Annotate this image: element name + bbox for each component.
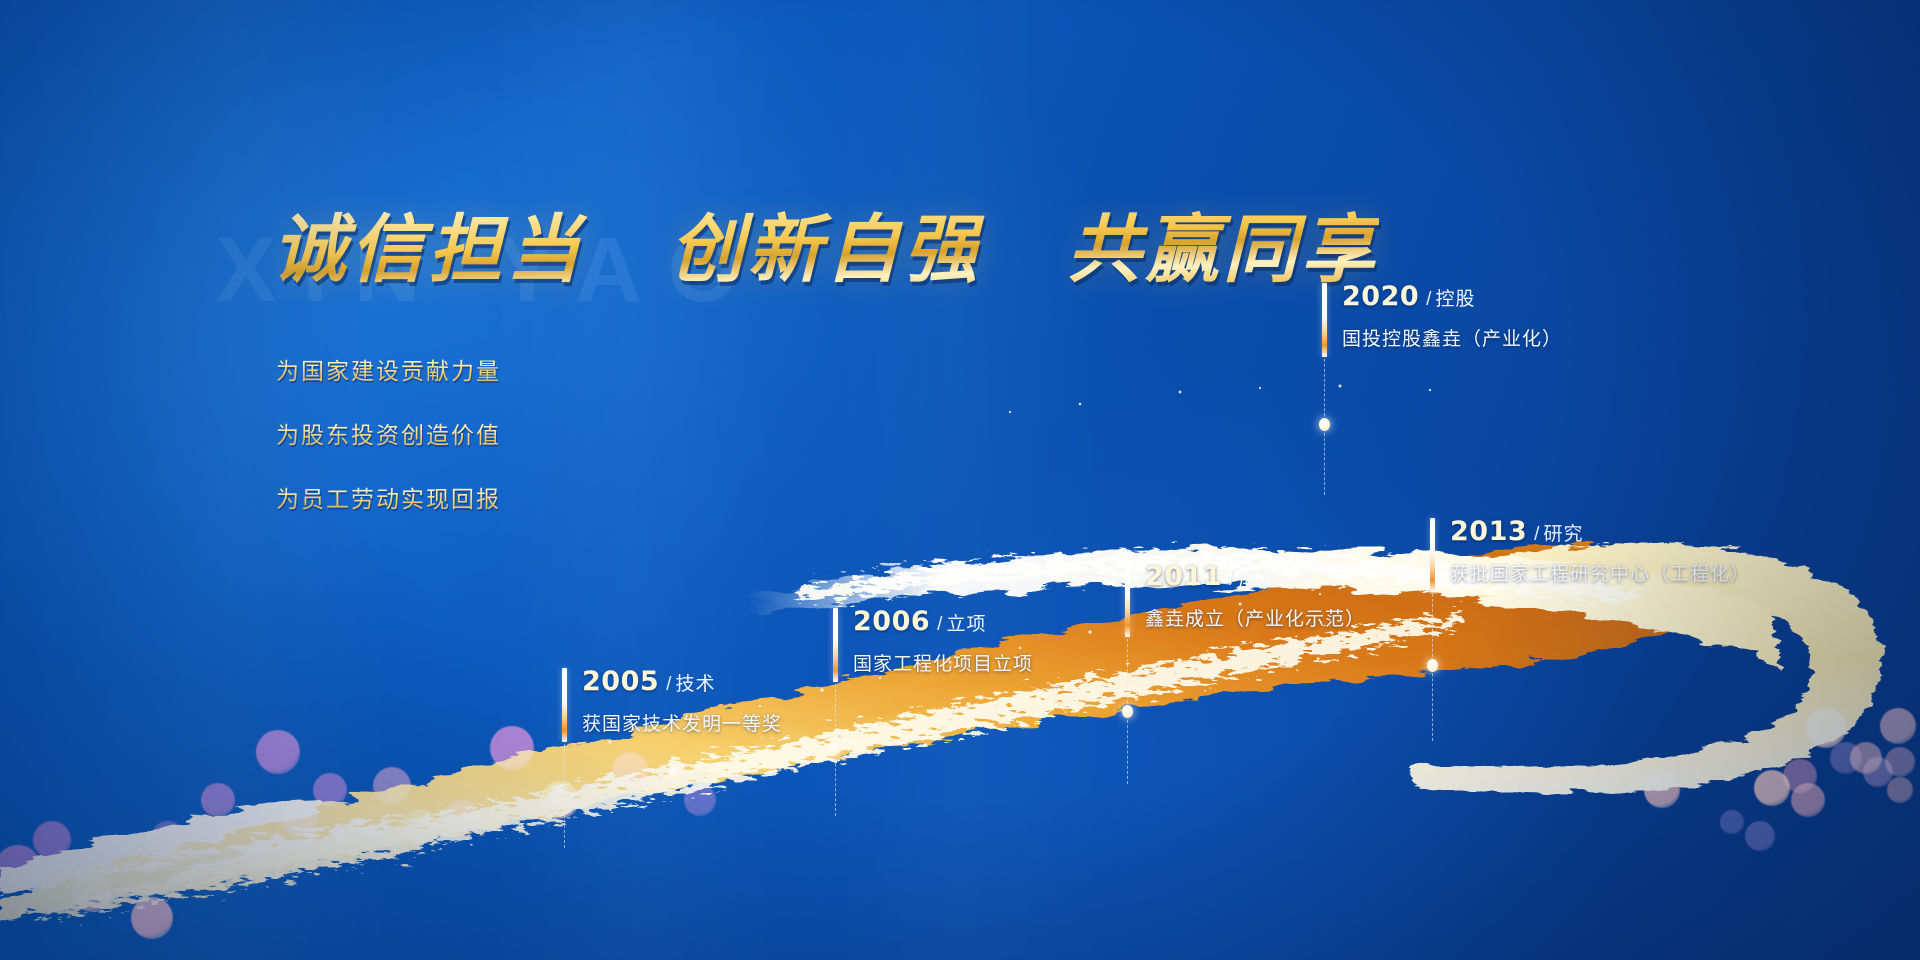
milestone-year: 2011 bbox=[1145, 561, 1222, 592]
bokeh-circle bbox=[612, 752, 648, 788]
bokeh-circle bbox=[1850, 742, 1882, 774]
milestone-accent-bar bbox=[1125, 563, 1130, 637]
milestone-description: 国家工程化项目立项 bbox=[853, 649, 1033, 676]
milestone-separator: / bbox=[1229, 569, 1234, 590]
bokeh-circle bbox=[1830, 742, 1862, 774]
milestone-description: 获批国家工程研究中心（工程化） bbox=[1450, 559, 1750, 586]
milestone-dot[interactable] bbox=[1319, 418, 1330, 431]
milestone-heading: 2005/技术 bbox=[582, 666, 782, 697]
milestone-description: 鑫垚成立（产业化示范） bbox=[1145, 604, 1365, 631]
milestone-separator: / bbox=[666, 674, 671, 695]
bokeh-circle bbox=[256, 730, 300, 774]
milestone-text-block: 2005/技术获国家技术发明一等奖 bbox=[582, 666, 782, 736]
milestone-description: 国投控股鑫垚（产业化） bbox=[1342, 324, 1562, 351]
milestone-text-block: 2013/研究获批国家工程研究中心（工程化） bbox=[1450, 516, 1750, 586]
slogan-item: 为员工劳动实现回报 bbox=[276, 480, 501, 514]
milestone-year: 2013 bbox=[1450, 516, 1527, 547]
bokeh-circle bbox=[0, 845, 41, 891]
bokeh-circle bbox=[1887, 777, 1913, 803]
bokeh-circle bbox=[403, 809, 437, 843]
bokeh-circle bbox=[541, 781, 579, 819]
bokeh-circle bbox=[1863, 757, 1893, 787]
milestone-dot[interactable] bbox=[830, 742, 841, 755]
milestone-tag: 研究 bbox=[1543, 523, 1583, 545]
bokeh-circle bbox=[444, 800, 480, 836]
bokeh-circle bbox=[1783, 759, 1817, 793]
milestone-dot[interactable] bbox=[668, 766, 679, 779]
bokeh-circle bbox=[1745, 821, 1775, 851]
milestone-description: 获国家技术发明一等奖 bbox=[582, 709, 782, 736]
bokeh-circle bbox=[1644, 772, 1680, 808]
milestone-accent-bar bbox=[1322, 283, 1327, 357]
banner-canvas: XIN YAO 诚信担当 创新自强 共赢同享 为国家建设贡献力量 为股东投资创造… bbox=[0, 0, 1920, 960]
headline-part-3: 共赢同享 bbox=[1067, 207, 1379, 293]
headline-part-2: 创新自强 bbox=[670, 207, 982, 293]
bokeh-circle bbox=[1754, 770, 1790, 806]
milestone-year: 2006 bbox=[853, 606, 930, 637]
milestone-text-block: 2006/立项国家工程化项目立项 bbox=[853, 606, 1033, 676]
milestone-separator: / bbox=[1426, 289, 1431, 310]
bokeh-circle bbox=[373, 767, 411, 805]
bokeh-circle bbox=[313, 773, 347, 807]
milestone-dot[interactable] bbox=[1427, 659, 1438, 672]
bokeh-circle bbox=[1880, 708, 1916, 744]
slogan-list: 为国家建设贡献力量 为股东投资创造价值 为员工劳动实现回报 bbox=[276, 352, 501, 544]
milestone-tag: 控股 bbox=[1435, 288, 1475, 310]
milestone-year: 2020 bbox=[1342, 281, 1419, 312]
milestone-tag: 立项 bbox=[946, 613, 986, 635]
milestone-separator: / bbox=[937, 614, 942, 635]
bokeh-circle bbox=[1720, 810, 1744, 834]
milestone-heading: 2011/成立 bbox=[1145, 561, 1365, 592]
bokeh-circle bbox=[490, 726, 534, 770]
bokeh-circle bbox=[282, 800, 318, 836]
slogan-item: 为国家建设贡献力量 bbox=[276, 352, 501, 386]
milestone-accent-bar bbox=[833, 608, 838, 682]
headline-part-1: 诚信担当 bbox=[272, 207, 584, 293]
bokeh-circle bbox=[72, 872, 112, 912]
milestone-year: 2005 bbox=[582, 666, 659, 697]
slogan-item: 为股东投资创造价值 bbox=[276, 416, 501, 450]
milestone-heading: 2013/研究 bbox=[1450, 516, 1750, 547]
milestone-text-block: 2011/成立鑫垚成立（产业化示范） bbox=[1145, 561, 1365, 631]
bokeh-circle bbox=[684, 784, 716, 816]
bokeh-circle bbox=[131, 897, 173, 939]
milestone-heading: 2020/控股 bbox=[1342, 281, 1562, 312]
bokeh-circle bbox=[201, 783, 235, 817]
milestone-heading: 2006/立项 bbox=[853, 606, 1033, 637]
milestone-separator: / bbox=[1534, 524, 1539, 545]
bokeh-circle bbox=[1791, 783, 1825, 817]
milestone-dot[interactable] bbox=[1122, 705, 1133, 718]
bokeh-circle bbox=[1885, 747, 1915, 777]
milestone-tag: 技术 bbox=[675, 673, 715, 695]
milestone-tag: 成立 bbox=[1238, 568, 1278, 590]
bokeh-circle bbox=[151, 821, 185, 855]
bokeh-circle bbox=[1806, 708, 1846, 748]
milestone-connector-line bbox=[564, 744, 565, 848]
milestone-accent-bar bbox=[562, 668, 567, 742]
milestone-text-block: 2020/控股国投控股鑫垚（产业化） bbox=[1342, 281, 1562, 351]
bokeh-circle bbox=[33, 821, 71, 859]
milestone-accent-bar bbox=[1430, 518, 1435, 592]
page-title: 诚信担当 创新自强 共赢同享 bbox=[272, 190, 1379, 297]
